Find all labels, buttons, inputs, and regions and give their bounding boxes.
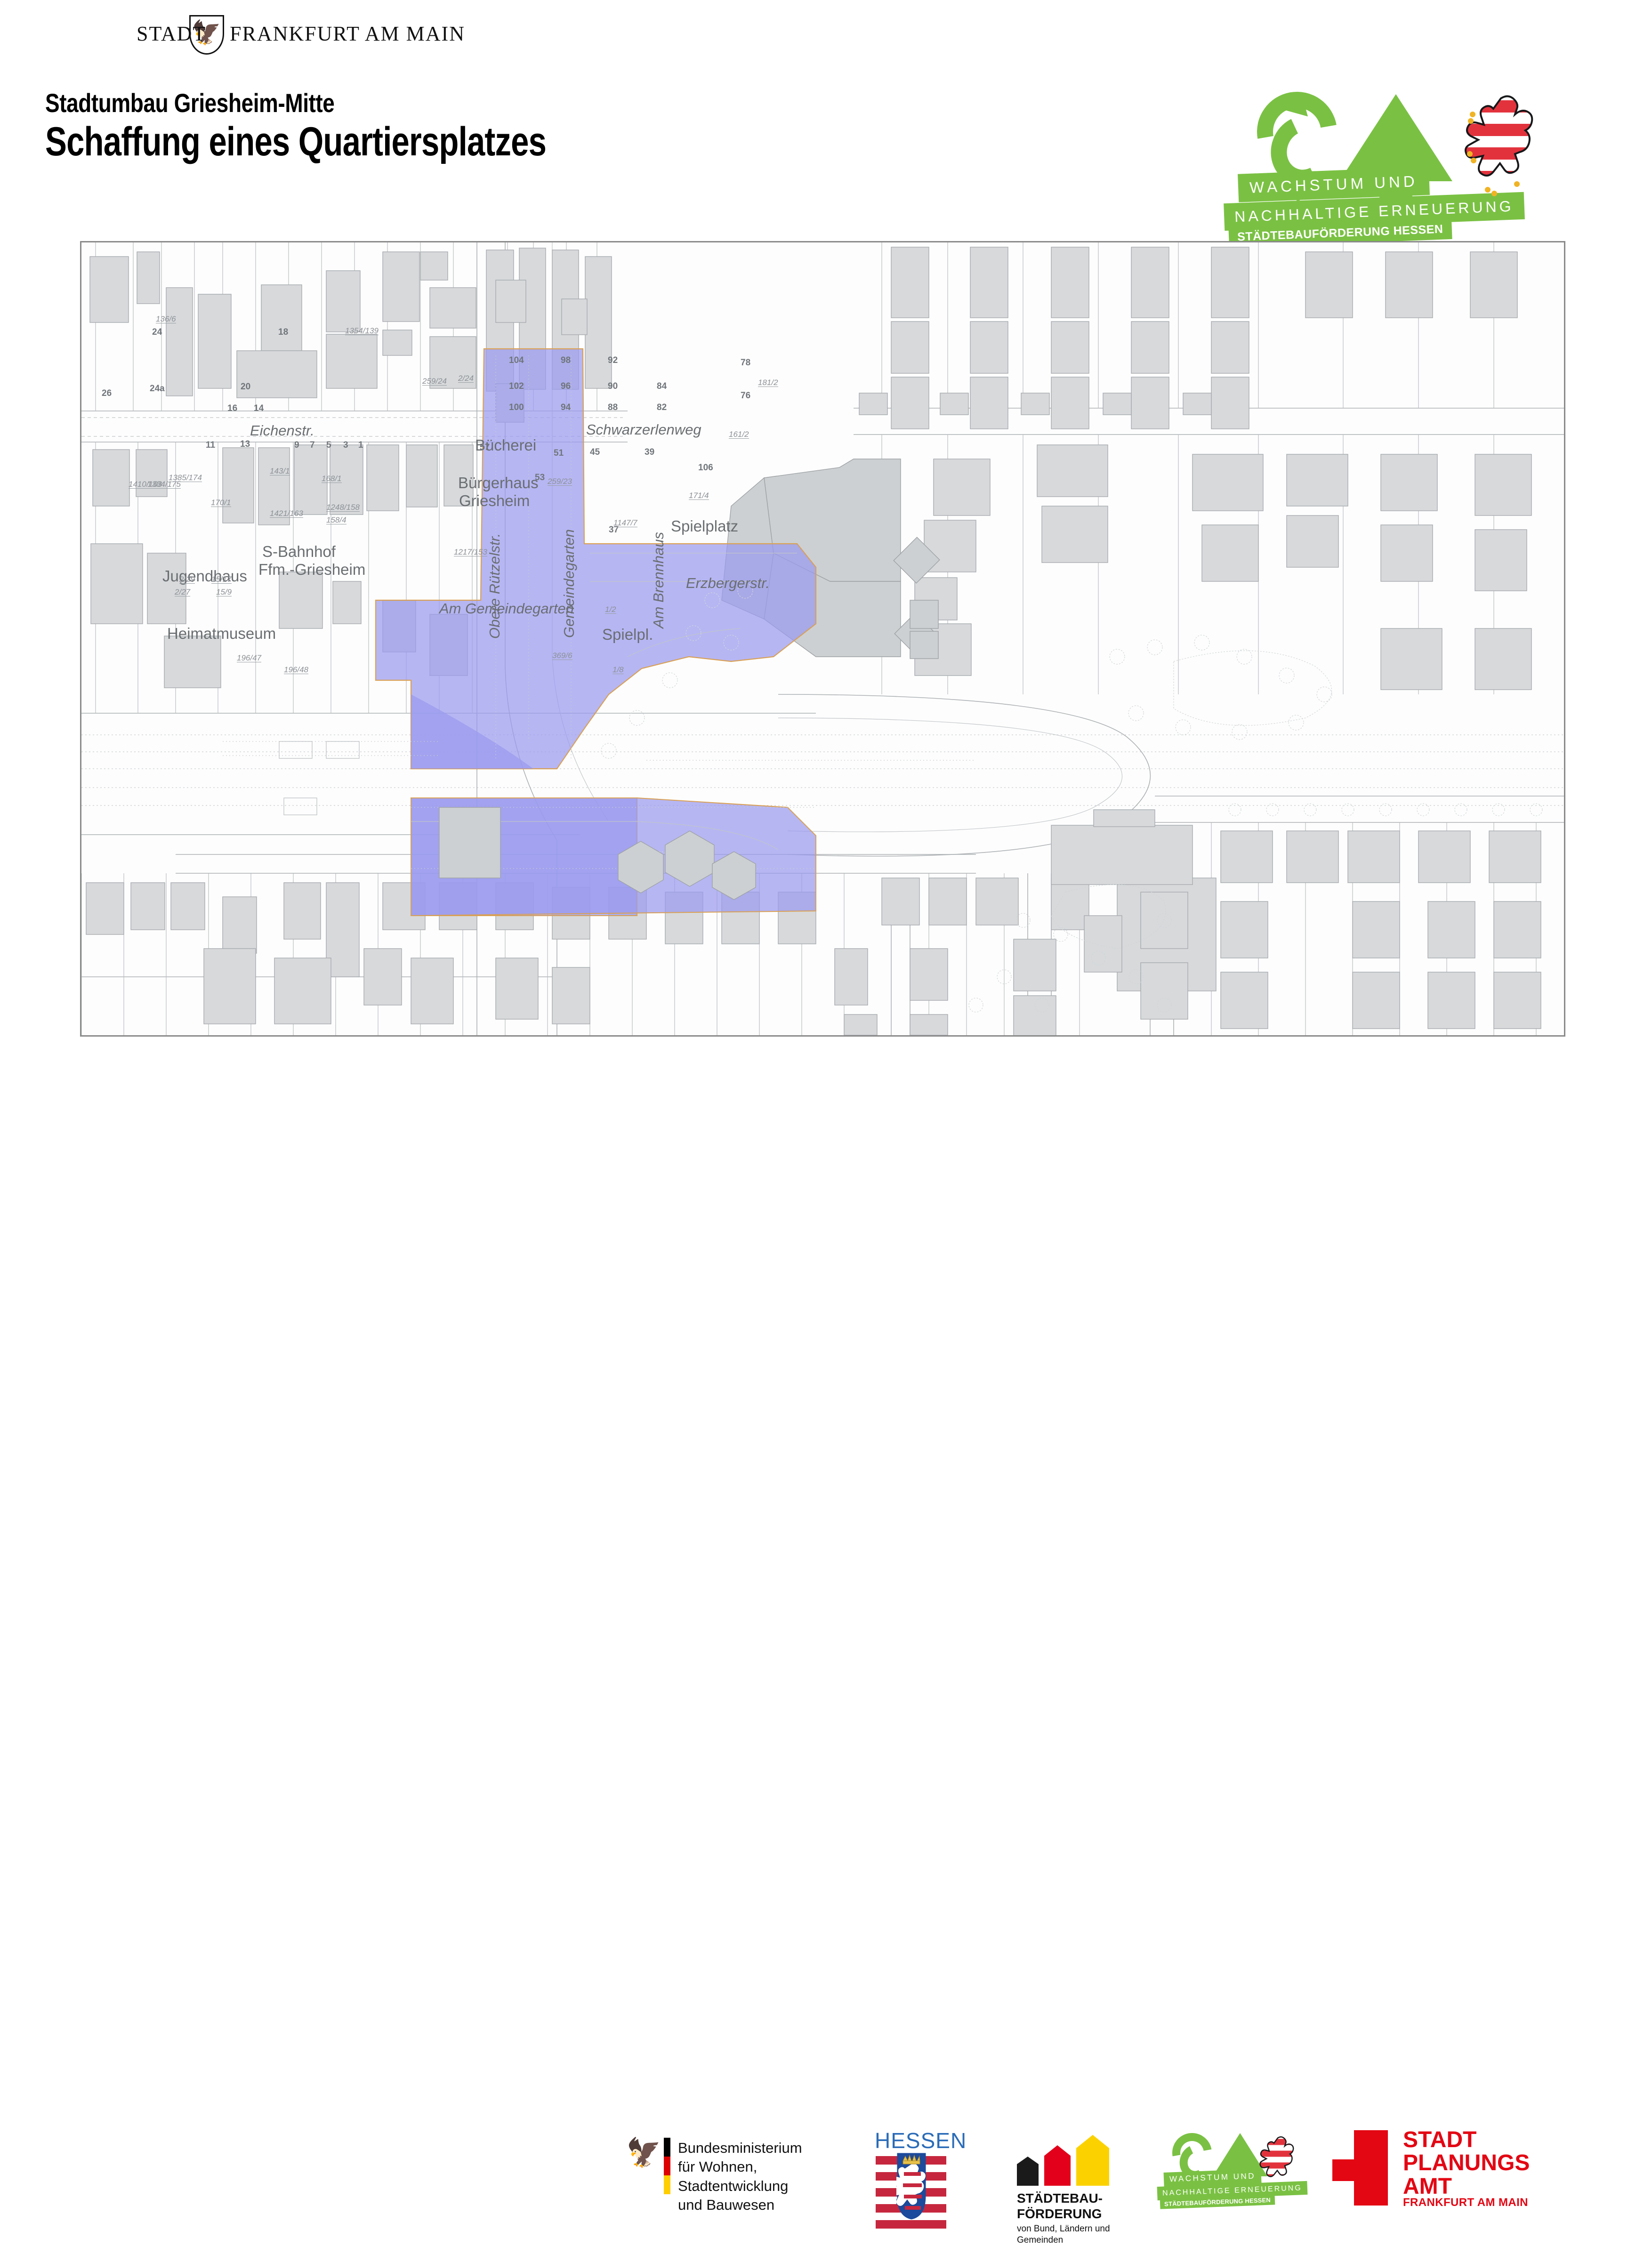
spa-line3: AMT <box>1403 2175 1530 2198</box>
house-number: 92 <box>608 355 618 366</box>
house-number: 106 <box>698 463 713 473</box>
parcel-label: 158/4 <box>326 516 347 524</box>
poi-label-buergerhaus: Bürgerhaus <box>458 474 539 492</box>
house-number: 53 <box>535 473 545 483</box>
house-number: 104 <box>509 355 524 366</box>
bmwsb-line1: Bundesministerium <box>678 2139 847 2157</box>
map-drawing: .blk { fill:#d7d9db; stroke:#a7abae; str… <box>81 242 1564 1035</box>
staedtebau-sub: von Bund, Ländern und Gemeinden <box>1017 2223 1110 2246</box>
house-number: 7 <box>310 440 315 451</box>
house-number: 20 <box>241 382 250 392</box>
house-number: 82 <box>657 403 667 413</box>
three-houses-icon <box>1017 2135 1130 2186</box>
parcel-label: 369/6 <box>552 652 572 660</box>
house-number: 9 <box>294 440 299 451</box>
parcel-label: 15/9 <box>216 588 232 596</box>
poi-label-ffm-griesheim: Ffm.-Griesheim <box>258 561 365 579</box>
hessen-lion-icon <box>1257 2134 1299 2190</box>
page-subtitle: Stadtumbau Griesheim-Mitte <box>45 88 334 118</box>
staedtebau-label: STÄDTEBAU- FÖRDERUNG <box>1017 2190 1103 2222</box>
poi-label-heimatmuseum: Heimatmuseum <box>167 625 276 643</box>
street-label-am-gemeindegarten: Am Gemeindegarten <box>439 600 574 617</box>
cadastral-map[interactable]: .blk { fill:#d7d9db; stroke:#a7abae; str… <box>80 241 1565 1037</box>
house-number: 78 <box>741 358 750 368</box>
house-number: 96 <box>561 381 571 392</box>
parcel-label: 1/8 <box>612 666 624 674</box>
parcel-label: 170/1 <box>211 499 231 507</box>
city-logo-word-frankfurt: FRANKFURT AM MAIN <box>230 22 465 46</box>
house-number: 90 <box>608 381 618 392</box>
german-flag-bar-icon <box>664 2138 670 2194</box>
street-label-erzbergerstr: Erzbergerstr. <box>686 575 770 592</box>
parcel-label: 259/24 <box>422 378 447 386</box>
street-label-gemeindegarten: Gemeindegarten <box>561 529 578 638</box>
staedtebau-sub1: von Bund, Ländern und <box>1017 2223 1110 2235</box>
parcel-label: 181/2 <box>758 379 778 387</box>
staedtebau-line2: FÖRDERUNG <box>1017 2206 1103 2222</box>
street-label-eichenstr: Eichenstr. <box>250 422 314 439</box>
house-number: 16 <box>227 403 237 414</box>
house-number: 76 <box>741 391 750 401</box>
stadtplanungsamt-text: STADT PLANUNGS AMT <box>1403 2128 1530 2198</box>
stadtplanungsamt-logo: STADT PLANUNGS AMT FRANKFURT AM MAIN <box>1332 2130 1568 2208</box>
parcel-label: 1147/7 <box>613 519 637 527</box>
spa-line2: PLANUNGS <box>1403 2151 1530 2174</box>
city-of-frankfurt-logo: 🦅 STADT FRANKFURT AM MAIN <box>66 14 367 52</box>
house-number: 3 <box>343 440 348 451</box>
house-number: 18 <box>278 327 288 338</box>
poi-label-spielpl: Spielpl. <box>602 626 653 644</box>
street-label-am-brennhaus: Am Brennhaus <box>650 532 667 628</box>
bmwsb-line2: für Wohnen, Stadtentwicklung <box>678 2157 847 2196</box>
stadtplanungsamt-mark-icon <box>1332 2130 1388 2206</box>
house-number: 11 <box>206 440 215 451</box>
parcel-label: 259/23 <box>548 478 572 486</box>
parcel-label: 1/2 <box>605 606 616 614</box>
bmwsb-line3: und Bauwesen <box>678 2196 847 2214</box>
parcel-label: 1217/153 <box>454 548 487 556</box>
parcel-label: 196/47 <box>237 654 261 662</box>
parcel-label: 1354/139 <box>345 327 379 335</box>
page-header: 🦅 STADT FRANKFURT AM MAIN Stadtumbau Gri… <box>0 0 1652 221</box>
house-number: 84 <box>657 381 667 392</box>
house-number: 88 <box>608 403 618 413</box>
parcel-label: 2/29 <box>179 576 195 584</box>
parcel-label: 2/24 <box>458 375 474 383</box>
bundesadler-icon: 🦅 <box>626 2139 661 2167</box>
house-number: 26 <box>102 388 112 399</box>
house-number: 45 <box>590 447 600 458</box>
hessen-lion-icon <box>1459 92 1544 200</box>
parcel-label: 136/6 <box>156 315 176 323</box>
parcel-label: 171/4 <box>689 492 709 500</box>
spa-subline: FRANKFURT AM MAIN <box>1403 2196 1528 2209</box>
street-label-schwarzerlenweg: Schwarzerlenweg <box>586 421 701 438</box>
parcel-label: 1421/163 <box>270 510 303 518</box>
poi-label-s-bahnhof: S-Bahnhof <box>262 543 336 561</box>
page-footer: 🦅 Bundesministerium für Wohnen, Stadtent… <box>0 1057 1652 1167</box>
street-label-obere-ruetzelstr: Obere Rützelstr. <box>486 533 503 639</box>
parcel-label: 1248/158 <box>326 504 360 512</box>
house-number: 14 <box>254 403 264 414</box>
poi-label-spielplatz: Spielplatz <box>671 517 738 535</box>
poi-label-jugendhaus: Jugendhaus <box>162 567 247 585</box>
house-number: 13 <box>240 439 250 450</box>
house-number: 98 <box>561 355 571 366</box>
house-number: 39 <box>645 447 654 458</box>
parcel-label: 161/2 <box>729 431 749 439</box>
page-title: Schaffung eines Quartiersplatzes <box>45 119 546 165</box>
house-number: 57 <box>480 443 490 453</box>
city-logo-word-stadt: STADT <box>137 22 206 46</box>
parcel-label: 196/48 <box>284 666 308 674</box>
house-number: 5 <box>326 440 331 451</box>
house-number: 94 <box>561 403 571 413</box>
poi-label-griesheim: Griesheim <box>459 492 530 510</box>
spa-line1: STADT <box>1403 2128 1530 2151</box>
parcel-label: 15/17 <box>211 576 232 584</box>
bmwsb-text: Bundesministerium für Wohnen, Stadtentwi… <box>678 2139 847 2214</box>
parcel-label: 143/1 <box>270 467 290 475</box>
house-number: 100 <box>509 403 524 413</box>
staedtebau-line1: STÄDTEBAU- <box>1017 2190 1103 2206</box>
bmwsb-logo: 🦅 Bundesministerium für Wohnen, Stadtent… <box>626 2134 847 2200</box>
house-number: 51 <box>554 448 564 459</box>
house-number: 1 <box>358 440 363 451</box>
parcel-label: 2/27 <box>175 588 190 596</box>
house-number: 24a <box>150 384 165 394</box>
staedtebau-sub2: Gemeinden <box>1017 2235 1110 2246</box>
parcel-label: 1385/174 <box>169 474 202 482</box>
hessen-coat-of-arms-icon <box>876 2128 946 2210</box>
house-number: 24 <box>152 327 162 338</box>
house-number: 102 <box>509 381 524 392</box>
parcel-label: 168/1 <box>322 475 342 483</box>
